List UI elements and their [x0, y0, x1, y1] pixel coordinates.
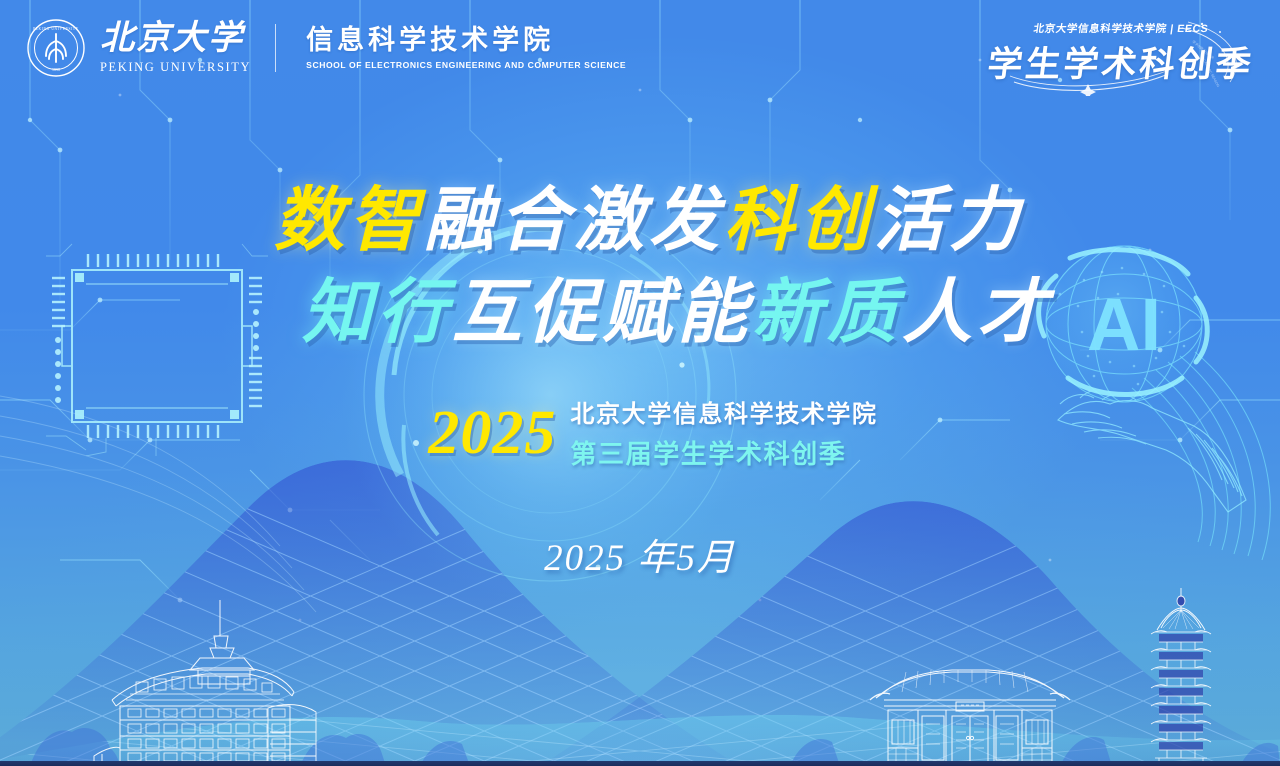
- main-title: 数智融合激发科创活力 知行互促赋能新质人才: [0, 180, 1280, 356]
- title-segment: 科创: [724, 183, 874, 260]
- tree-silhouettes: [0, 676, 1280, 766]
- pku-name-block: 北京大学 PEKING UNIVERSITY: [100, 21, 251, 75]
- pku-brand-block: PEKING UNIVERSITY 1898 北京大学 PEKING UNIVE…: [26, 18, 626, 78]
- subtitle-block: 2025 北京大学信息科学技术学院 第三届学生学术科创季: [0, 394, 1280, 471]
- school-name-cn: 信息科学技术学院: [306, 26, 554, 56]
- bottom-strip: [0, 761, 1280, 766]
- brand-divider: [275, 24, 276, 72]
- svg-text:PEKING UNIVERSITY: PEKING UNIVERSITY: [33, 27, 79, 31]
- poster-header: PEKING UNIVERSITY 1898 北京大学 PEKING UNIVE…: [0, 0, 1280, 96]
- school-name-en: SCHOOL OF ELECTRONICS ENGINEERING AND CO…: [306, 60, 626, 70]
- svg-text:1898: 1898: [52, 67, 60, 72]
- title-segment: 互促赋能: [452, 275, 752, 352]
- university-name-cn: 北京大学: [100, 21, 244, 57]
- pku-seal-icon: PEKING UNIVERSITY 1898: [26, 18, 86, 78]
- title-segment: 新质: [752, 275, 902, 352]
- season-logo: 学术创新引领未来 ACADEMIC SEASON 北京大学信息科学技术学院 | …: [996, 12, 1246, 96]
- season-logo-superscript: 北京大学信息科学技术学院 | EECS: [1033, 21, 1210, 36]
- event-date: 2025 年5月: [0, 527, 1280, 581]
- title-line-2: 知行互促赋能新质人才: [0, 272, 1280, 356]
- title-segment: 知行: [302, 275, 452, 352]
- subtitle-line-1: 北京大学信息科学技术学院: [570, 394, 877, 429]
- school-name-block: 信息科学技术学院 SCHOOL OF ELECTRONICS ENGINEERI…: [306, 26, 626, 70]
- university-name-en: PEKING UNIVERSITY: [100, 60, 251, 75]
- poster-canvas: AI: [0, 0, 1280, 766]
- title-line-1: 数智融合激发科创活力: [0, 180, 1280, 264]
- season-logo-main: 学生学术科创季: [985, 36, 1257, 87]
- title-segment: 活力: [874, 183, 1024, 260]
- title-segment: 人才: [902, 275, 1052, 352]
- title-segment: 数智: [274, 183, 424, 260]
- subtitle-year: 2025: [428, 402, 556, 464]
- subtitle-line-2: 第三届学生学术科创季: [570, 434, 877, 471]
- subtitle-lines: 北京大学信息科学技术学院 第三届学生学术科创季: [570, 394, 877, 471]
- title-segment: 融合激发: [424, 183, 724, 260]
